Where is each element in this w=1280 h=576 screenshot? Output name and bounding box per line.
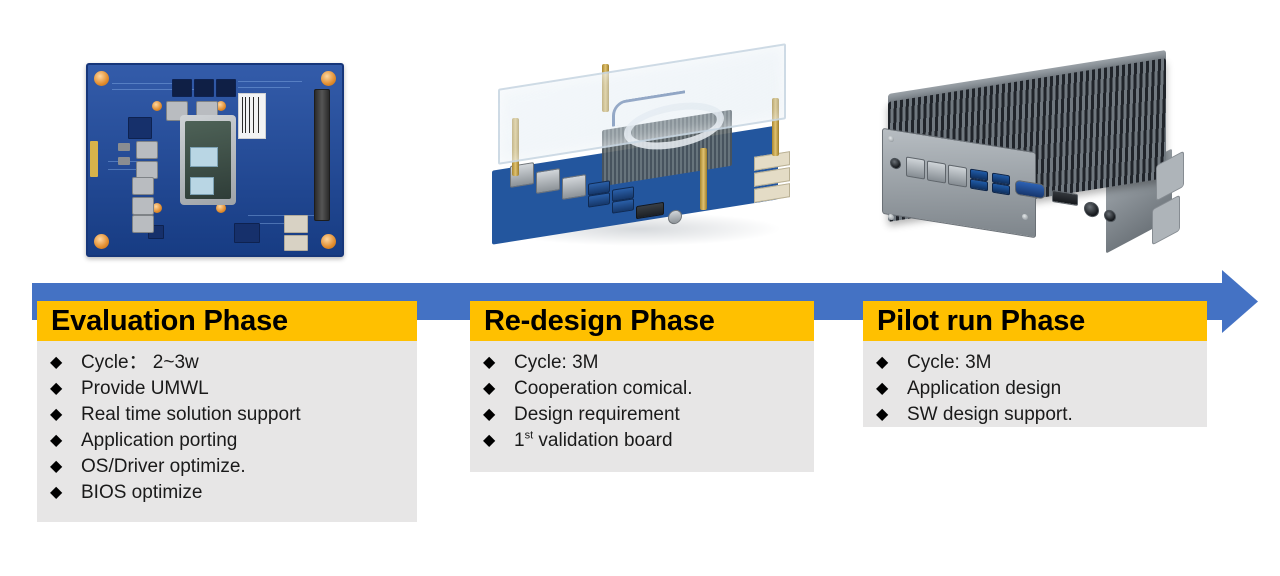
list-item-label: Cycle: 3M xyxy=(514,350,598,376)
list-item: ◆ Cooperation comical. xyxy=(480,376,804,402)
diamond-bullet-icon: ◆ xyxy=(47,402,81,428)
timeline-arrow-head-icon xyxy=(1222,270,1258,333)
list-item: ◆ Provide UMWL xyxy=(47,376,407,402)
list-item-label: Cycle: 3M xyxy=(907,350,991,376)
com-express-module-photo xyxy=(86,63,344,257)
diamond-bullet-icon: ◆ xyxy=(480,376,514,402)
slide-canvas: Evaluation Phase ◆ Cycle： 2~3w ◆ Provide… xyxy=(0,0,1280,576)
sbc-acrylic-cover-photo xyxy=(484,62,798,258)
diamond-bullet-icon: ◆ xyxy=(47,454,81,480)
diamond-bullet-icon: ◆ xyxy=(480,350,514,376)
phase-block-evaluation[interactable]: Evaluation Phase ◆ Cycle： 2~3w ◆ Provide… xyxy=(37,301,417,522)
list-item-label: Cycle： 2~3w xyxy=(81,350,199,376)
list-item-label: BIOS optimize xyxy=(81,480,202,506)
list-item: ◆ 1st validation board xyxy=(480,428,804,454)
phase-block-pilot-run[interactable]: Pilot run Phase ◆ Cycle: 3M ◆ Applicatio… xyxy=(863,301,1207,427)
phase-bullets-pilot-run: ◆ Cycle: 3M ◆ Application design ◆ SW de… xyxy=(863,341,1207,427)
list-item: ◆ Design requirement xyxy=(480,402,804,428)
diamond-bullet-icon: ◆ xyxy=(47,480,81,506)
list-item: ◆ BIOS optimize xyxy=(47,480,407,506)
diamond-bullet-icon: ◆ xyxy=(873,402,907,428)
list-item: ◆ Application design xyxy=(873,376,1197,402)
list-item: ◆ Cycle: 3M xyxy=(873,350,1197,376)
phase-title-evaluation: Evaluation Phase xyxy=(37,301,417,341)
diamond-bullet-icon: ◆ xyxy=(480,402,514,428)
ordinal-number: 1 xyxy=(514,430,525,451)
list-item-label: OS/Driver optimize. xyxy=(81,454,246,480)
phase-title-re-design: Re-design Phase xyxy=(470,301,814,341)
list-item-label: Application design xyxy=(907,376,1061,402)
list-item-label: Cooperation comical. xyxy=(514,376,692,402)
phase-bullets-re-design: ◆ Cycle: 3M ◆ Cooperation comical. ◆ Des… xyxy=(470,341,814,472)
list-item: ◆ Real time solution support xyxy=(47,402,407,428)
list-item-label: Provide UMWL xyxy=(81,376,209,402)
list-item-label: SW design support. xyxy=(907,402,1073,428)
diamond-bullet-icon: ◆ xyxy=(873,376,907,402)
phase-title-pilot-run: Pilot run Phase xyxy=(863,301,1207,341)
list-item: ◆ Cycle： 2~3w xyxy=(47,350,407,376)
list-item: ◆ Application porting xyxy=(47,428,407,454)
list-item: ◆ OS/Driver optimize. xyxy=(47,454,407,480)
list-item-label: Design requirement xyxy=(514,402,680,428)
list-item: ◆ SW design support. xyxy=(873,402,1197,428)
phase-block-re-design[interactable]: Re-design Phase ◆ Cycle: 3M ◆ Cooperatio… xyxy=(470,301,814,472)
phase-bullets-evaluation: ◆ Cycle： 2~3w ◆ Provide UMWL ◆ Real time… xyxy=(37,341,417,522)
list-item-label: Application porting xyxy=(81,428,237,454)
diamond-bullet-icon: ◆ xyxy=(47,428,81,454)
diamond-bullet-icon: ◆ xyxy=(47,350,81,376)
list-item-label: 1st validation board xyxy=(514,428,673,454)
diamond-bullet-icon: ◆ xyxy=(873,350,907,376)
ordinal-rest: validation board xyxy=(533,430,672,451)
ordinal-suffix: st xyxy=(525,430,534,442)
diamond-bullet-icon: ◆ xyxy=(480,428,514,454)
fanless-box-pc-photo xyxy=(870,62,1190,254)
diamond-bullet-icon: ◆ xyxy=(47,376,81,402)
list-item: ◆ Cycle: 3M xyxy=(480,350,804,376)
list-item-label: Real time solution support xyxy=(81,402,301,428)
